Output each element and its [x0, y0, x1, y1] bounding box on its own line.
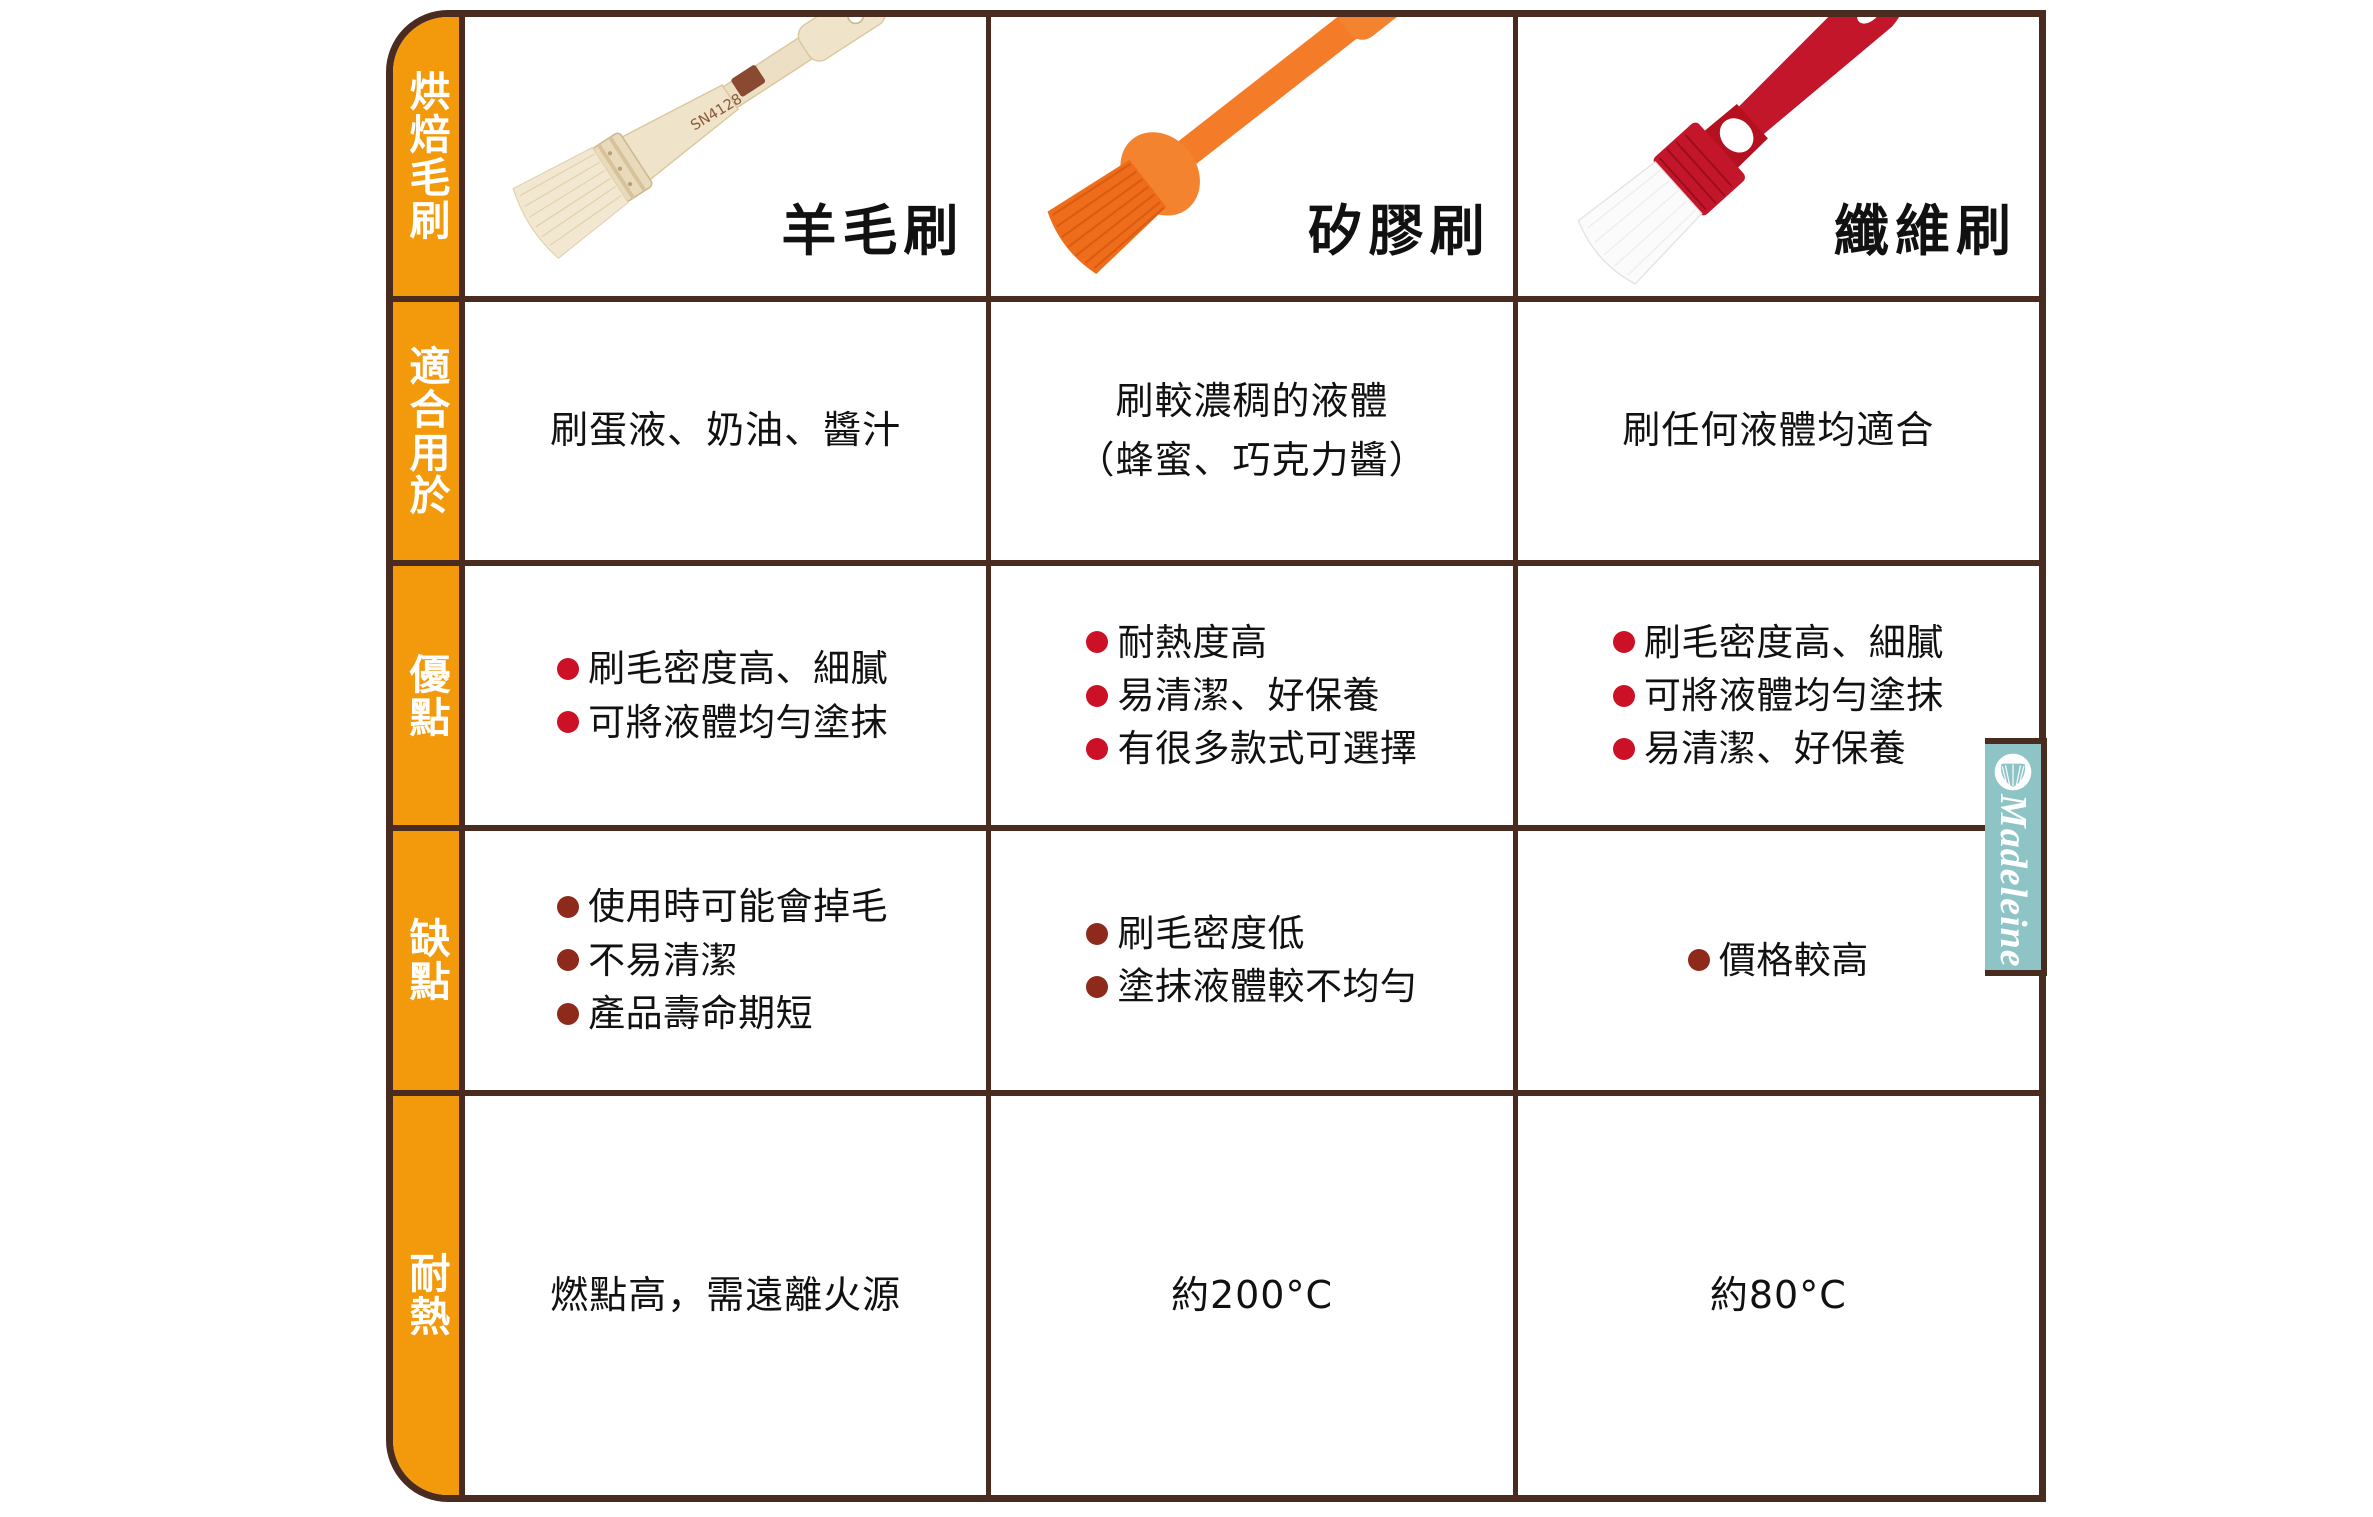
row-label-text: 適合用於 — [401, 345, 451, 517]
bullet-dot-icon — [1613, 631, 1635, 653]
list-item-label: 刷毛密度高、細膩 — [588, 645, 888, 692]
row-label-text: 優點 — [401, 653, 451, 739]
bullet-dot-icon — [557, 1003, 579, 1025]
row-label-heat-resistance: 耐熱 — [393, 1096, 465, 1495]
list-item-label: 刷毛密度高、細膩 — [1644, 619, 1944, 666]
list-item: 易清潔、好保養 — [1613, 725, 1944, 772]
suitable-wool-text: 刷蛋液、奶油、醬汁 — [550, 401, 901, 460]
cell-cons-silicone: 刷毛密度低 塗抹液體較不均勻 — [991, 831, 1517, 1090]
list-item: 產品壽命期短 — [557, 990, 888, 1037]
text-line: 刷任何液體均適合 — [1622, 401, 1934, 460]
cell-suitable-wool: 刷蛋液、奶油、醬汁 — [465, 302, 991, 561]
table-row-header: 烘焙毛刷 — [393, 17, 2039, 302]
column-name-silicone: 矽膠刷 — [1308, 186, 1491, 266]
bullet-dot-icon — [1613, 738, 1635, 760]
list-item: 使用時可能會掉毛 — [557, 883, 888, 930]
list-item: 可將液體均勻塗抹 — [1613, 672, 1944, 719]
column-name-fiber: 纖維刷 — [1834, 186, 2017, 266]
table-row-suitable-for: 適合用於 刷蛋液、奶油、醬汁 刷較濃稠的液體 （蜂蜜、巧克力醬） 刷任何液體均適… — [393, 302, 2039, 567]
row-label-text: 缺點 — [401, 917, 451, 1003]
text-line: 燃點高，需遠離火源 — [550, 1266, 901, 1325]
list-item: 不易清潔 — [557, 937, 888, 984]
list-item: 可將液體均勻塗抹 — [557, 699, 888, 746]
text-line: （蜂蜜、巧克力醬） — [1076, 431, 1427, 490]
list-item-label: 使用時可能會掉毛 — [588, 883, 888, 930]
table-row-pros: 優點 刷毛密度高、細膩 可將液體均勻塗抹 耐熱度高 — [393, 566, 2039, 831]
brand-name: Madeleine — [1994, 794, 2032, 968]
column-name-wool: 羊毛刷 — [781, 186, 964, 266]
bullet-dot-icon — [1086, 738, 1108, 760]
cell-suitable-fiber: 刷任何液體均適合 — [1518, 302, 2039, 561]
list-item-label: 可將液體均勻塗抹 — [588, 699, 888, 746]
text-line: 刷較濃稠的液體 — [1076, 372, 1427, 431]
bullet-dot-icon — [1086, 976, 1108, 998]
list-item: 易清潔、好保養 — [1086, 672, 1417, 719]
row-label-pros: 優點 — [393, 566, 465, 825]
row-label-baking-brush: 烘焙毛刷 — [393, 17, 465, 296]
cons-fiber-list: 價格較高 — [1678, 937, 1879, 984]
row-label-suitable-for: 適合用於 — [393, 302, 465, 561]
list-item: 有很多款式可選擇 — [1086, 725, 1417, 772]
text-line: 約200°C — [1171, 1266, 1333, 1325]
cell-heat-silicone: 約200°C — [991, 1096, 1517, 1495]
list-item-label: 不易清潔 — [588, 937, 738, 984]
cell-pros-wool: 刷毛密度高、細膩 可將液體均勻塗抹 — [465, 566, 991, 825]
cell-cons-wool: 使用時可能會掉毛 不易清潔 產品壽命期短 — [465, 831, 991, 1090]
cell-heat-fiber: 約80°C — [1518, 1096, 2039, 1495]
heat-silicone-text: 約200°C — [1171, 1266, 1333, 1325]
cons-wool-list: 使用時可能會掉毛 不易清潔 產品壽命期短 — [553, 883, 898, 1037]
list-item-label: 有很多款式可選擇 — [1117, 725, 1417, 772]
cell-heat-wool: 燃點高，需遠離火源 — [465, 1096, 991, 1495]
comparison-table: 烘焙毛刷 — [386, 10, 2046, 1502]
pros-wool-list: 刷毛密度高、細膩 可將液體均勻塗抹 — [553, 645, 898, 746]
cell-pros-silicone: 耐熱度高 易清潔、好保養 有很多款式可選擇 — [991, 566, 1517, 825]
list-item: 刷毛密度低 — [1086, 910, 1417, 957]
list-item-label: 價格較高 — [1719, 937, 1869, 984]
table-row-heat-resistance: 耐熱 燃點高，需遠離火源 約200°C 約80°C — [393, 1096, 2039, 1495]
brand-tab-madeleine[interactable]: Madeleine — [1985, 738, 2047, 976]
shell-icon — [1993, 752, 2033, 792]
cell-suitable-silicone: 刷較濃稠的液體 （蜂蜜、巧克力醬） — [991, 302, 1517, 561]
table-row-cons: 缺點 使用時可能會掉毛 不易清潔 產品壽命期短 — [393, 831, 2039, 1096]
cell-fiber-brush-header: 纖維刷 — [1518, 17, 2039, 296]
bullet-dot-icon — [1086, 923, 1108, 945]
list-item-label: 易清潔、好保養 — [1644, 725, 1907, 772]
bullet-dot-icon — [1688, 949, 1710, 971]
bullet-dot-icon — [557, 711, 579, 733]
pros-silicone-list: 耐熱度高 易清潔、好保養 有很多款式可選擇 — [1076, 619, 1427, 773]
heat-fiber-text: 約80°C — [1710, 1266, 1847, 1325]
bullet-dot-icon — [557, 896, 579, 918]
pros-fiber-list: 刷毛密度高、細膩 可將液體均勻塗抹 易清潔、好保養 — [1603, 619, 1954, 773]
cell-pros-fiber: 刷毛密度高、細膩 可將液體均勻塗抹 易清潔、好保養 — [1518, 566, 2039, 825]
list-item-label: 耐熱度高 — [1117, 619, 1267, 666]
list-item: 塗抹液體較不均勻 — [1086, 963, 1417, 1010]
row-label-text: 耐熱 — [401, 1252, 451, 1338]
row-label-cons: 缺點 — [393, 831, 465, 1090]
svg-text:SN4128: SN4128 — [688, 91, 745, 134]
list-item: 刷毛密度高、細膩 — [1613, 619, 1944, 666]
suitable-fiber-text: 刷任何液體均適合 — [1622, 401, 1934, 460]
list-item-label: 塗抹液體較不均勻 — [1117, 963, 1417, 1010]
text-line: 約80°C — [1710, 1266, 1847, 1325]
list-item-label: 易清潔、好保養 — [1117, 672, 1380, 719]
bullet-dot-icon — [557, 949, 579, 971]
list-item-label: 產品壽命期短 — [588, 990, 813, 1037]
cell-wool-brush-header: SN4128 羊毛刷 — [465, 17, 991, 296]
list-item: 價格較高 — [1688, 937, 1869, 984]
list-item-label: 刷毛密度低 — [1117, 910, 1305, 957]
bullet-dot-icon — [1613, 685, 1635, 707]
cons-silicone-list: 刷毛密度低 塗抹液體較不均勻 — [1076, 910, 1427, 1011]
cell-silicone-brush-header: 矽膠刷 — [991, 17, 1517, 296]
suitable-silicone-text: 刷較濃稠的液體 （蜂蜜、巧克力醬） — [1076, 372, 1427, 490]
cell-cons-fiber: 價格較高 — [1518, 831, 2039, 1090]
list-item-label: 可將液體均勻塗抹 — [1644, 672, 1944, 719]
bullet-dot-icon — [1086, 685, 1108, 707]
bullet-dot-icon — [557, 658, 579, 680]
list-item: 刷毛密度高、細膩 — [557, 645, 888, 692]
list-item: 耐熱度高 — [1086, 619, 1417, 666]
bullet-dot-icon — [1086, 631, 1108, 653]
text-line: 刷蛋液、奶油、醬汁 — [550, 401, 901, 460]
heat-wool-text: 燃點高，需遠離火源 — [550, 1266, 901, 1325]
row-label-text: 烘焙毛刷 — [401, 70, 451, 242]
